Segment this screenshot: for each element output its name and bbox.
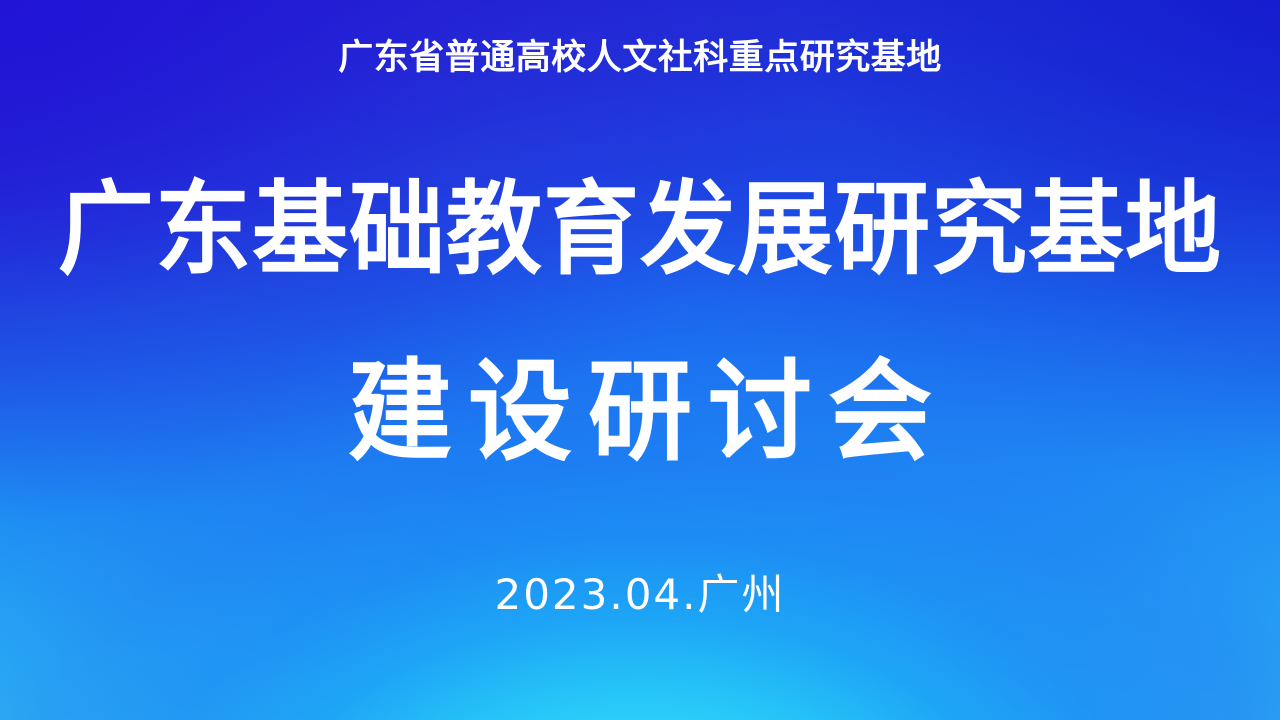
title-line-1: 广东基础教育发展研究基地 bbox=[0, 168, 1280, 293]
title-line-2: 建设研讨会 bbox=[0, 348, 1280, 479]
presentation-title-slide: 广东省普通高校人文社科重点研究基地 广东基础教育发展研究基地 建设研讨会 202… bbox=[0, 0, 1280, 720]
date-and-venue: 2023.04.广州 bbox=[0, 566, 1280, 624]
organization-subtitle: 广东省普通高校人文社科重点研究基地 bbox=[0, 34, 1280, 82]
page-title: 广东基础教育发展研究基地 建设研讨会 bbox=[0, 168, 1280, 472]
